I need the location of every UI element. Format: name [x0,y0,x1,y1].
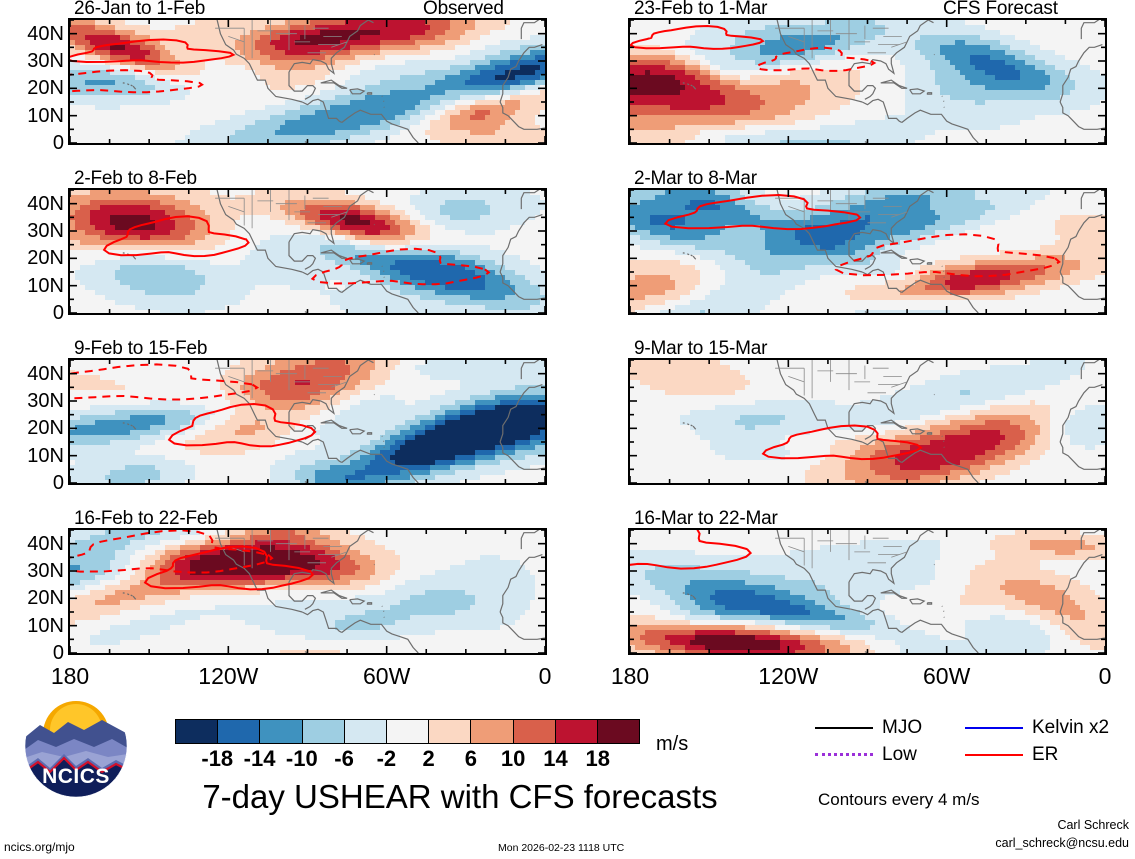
y-axis-ticklabel: 30N [2,560,64,583]
map-panel-7[interactable] [628,358,1107,485]
y-axis-ticklabel: 20N [2,587,64,610]
colorbar-ticklabel: 2 [423,746,435,772]
contour-interval-note: Contours every 4 m/s [818,790,980,810]
colorbar-unit-label: m/s [656,733,688,756]
footer-website: ncics.org/mjo [4,840,75,854]
y-axis-ticklabel: 40N [2,193,64,216]
wave-legend: MJO Kelvin x2 Low ER [815,714,1125,768]
colorbar-cell [344,720,386,743]
map-panel-6[interactable] [628,188,1107,315]
map-panel-3[interactable] [68,358,547,485]
map-field [70,530,545,653]
y-axis-ticklabel: 40N [2,363,64,386]
footer-author: Carl Schreck [1057,818,1129,832]
legend-row: MJO Kelvin x2 [815,714,1125,741]
x-axis-ticklabel: 180 [611,663,649,690]
er-line-swatch [965,754,1023,756]
colorbar-ticklabel: -18 [201,746,233,772]
footer-timestamp: Mon 2026-02-23 1118 UTC [498,842,624,854]
y-axis-ticklabel: 0 [2,132,64,155]
y-axis-ticklabel: 0 [2,642,64,665]
colorbar-cell [259,720,301,743]
x-axis-ticklabel: 120W [758,663,818,690]
colorbar-ticklabels: -18-14-10-6-226101418 [175,744,640,772]
map-panel-2[interactable] [68,188,547,315]
map-panel-1[interactable] [68,18,547,145]
colorbar-ticklabel: -10 [286,746,318,772]
colorbar: -18-14-10-6-226101418 [175,719,640,772]
column-header-forecast: CFS Forecast [943,0,1058,20]
figure-main-title: 7-day USHEAR with CFS forecasts [150,778,770,816]
y-axis-ticklabel: 30N [2,390,64,413]
x-axis-ticklabel: 180 [51,663,89,690]
colorbar-cell [428,720,470,743]
legend-label: Kelvin x2 [1032,717,1109,739]
colorbar-ticklabel: -14 [244,746,276,772]
legend-item-low: Low [815,744,965,766]
y-axis-ticklabel: 20N [2,417,64,440]
y-axis-ticklabel: 0 [2,302,64,325]
map-field [630,360,1105,483]
panel-title-8: 16-Mar to 22-Mar [634,508,778,530]
panel-title-5: 23-Feb to 1-Mar [634,0,767,20]
panel-title-3: 9-Feb to 15-Feb [74,338,207,360]
y-axis-ticklabel: 10N [2,615,64,638]
x-axis-ticklabel: 120W [198,663,258,690]
ushear-forecast-figure: 26-Jan to 1-FebObserved40N30N20N10N02-Fe… [0,0,1135,859]
y-axis-ticklabel: 30N [2,50,64,73]
map-panel-4[interactable] [68,528,547,655]
legend-item-er: ER [965,744,1115,766]
map-field [630,530,1105,653]
legend-item-mjo: MJO [815,717,965,739]
colorbar-ticklabel: -2 [377,746,397,772]
colorbar-cell [470,720,512,743]
panel-title-4: 16-Feb to 22-Feb [74,508,218,530]
map-field [630,190,1105,313]
colorbar-ticklabel: 14 [543,746,567,772]
colorbar-cell [217,720,259,743]
panel-title-7: 9-Mar to 15-Mar [634,338,767,360]
colorbar-ticklabel: 10 [501,746,525,772]
map-field [70,360,545,483]
footer-email: carl_schreck@ncsu.edu [995,836,1129,850]
column-header-observed: Observed [423,0,504,20]
y-axis-ticklabel: 40N [2,23,64,46]
legend-item-kelvin: Kelvin x2 [965,717,1115,739]
y-axis-ticklabel: 20N [2,77,64,100]
y-axis-ticklabel: 30N [2,220,64,243]
panel-title-1: 26-Jan to 1-Feb [74,0,205,20]
y-axis-ticklabel: 40N [2,533,64,556]
legend-row: Low ER [815,741,1125,768]
legend-label: ER [1032,744,1058,766]
colorbar-cell [555,720,597,743]
x-axis-ticklabel: 0 [539,663,552,690]
colorbar-cell [176,720,217,743]
map-panel-5[interactable] [628,18,1107,145]
y-axis-ticklabel: 10N [2,275,64,298]
map-field [630,20,1105,143]
panel-title-6: 2-Mar to 8-Mar [634,168,757,190]
mjo-line-swatch [815,727,873,729]
colorbar-ticklabel: -6 [334,746,354,772]
colorbar-cell [302,720,344,743]
map-panel-8[interactable] [628,528,1107,655]
colorbar-cell [597,720,639,743]
x-axis-ticklabel: 60W [923,663,970,690]
y-axis-ticklabel: 10N [2,445,64,468]
ncics-logo-text: NCICS [24,765,128,789]
legend-label: Low [882,744,917,766]
low-line-swatch [815,753,873,756]
legend-label: MJO [882,717,922,739]
colorbar-cell [513,720,555,743]
x-axis-ticklabel: 60W [363,663,410,690]
kelvin-line-swatch [965,727,1023,729]
y-axis-ticklabel: 10N [2,105,64,128]
map-field [70,190,545,313]
y-axis-ticklabel: 20N [2,247,64,270]
map-field [70,20,545,143]
colorbar-ticklabel: 6 [465,746,477,772]
colorbar-ticklabel: 18 [585,746,609,772]
panel-title-2: 2-Feb to 8-Feb [74,168,197,190]
colorbar-strip [175,719,640,744]
x-axis-ticklabel: 0 [1099,663,1112,690]
colorbar-cell [386,720,428,743]
y-axis-ticklabel: 0 [2,472,64,495]
ncics-logo: NCICS [24,694,128,798]
